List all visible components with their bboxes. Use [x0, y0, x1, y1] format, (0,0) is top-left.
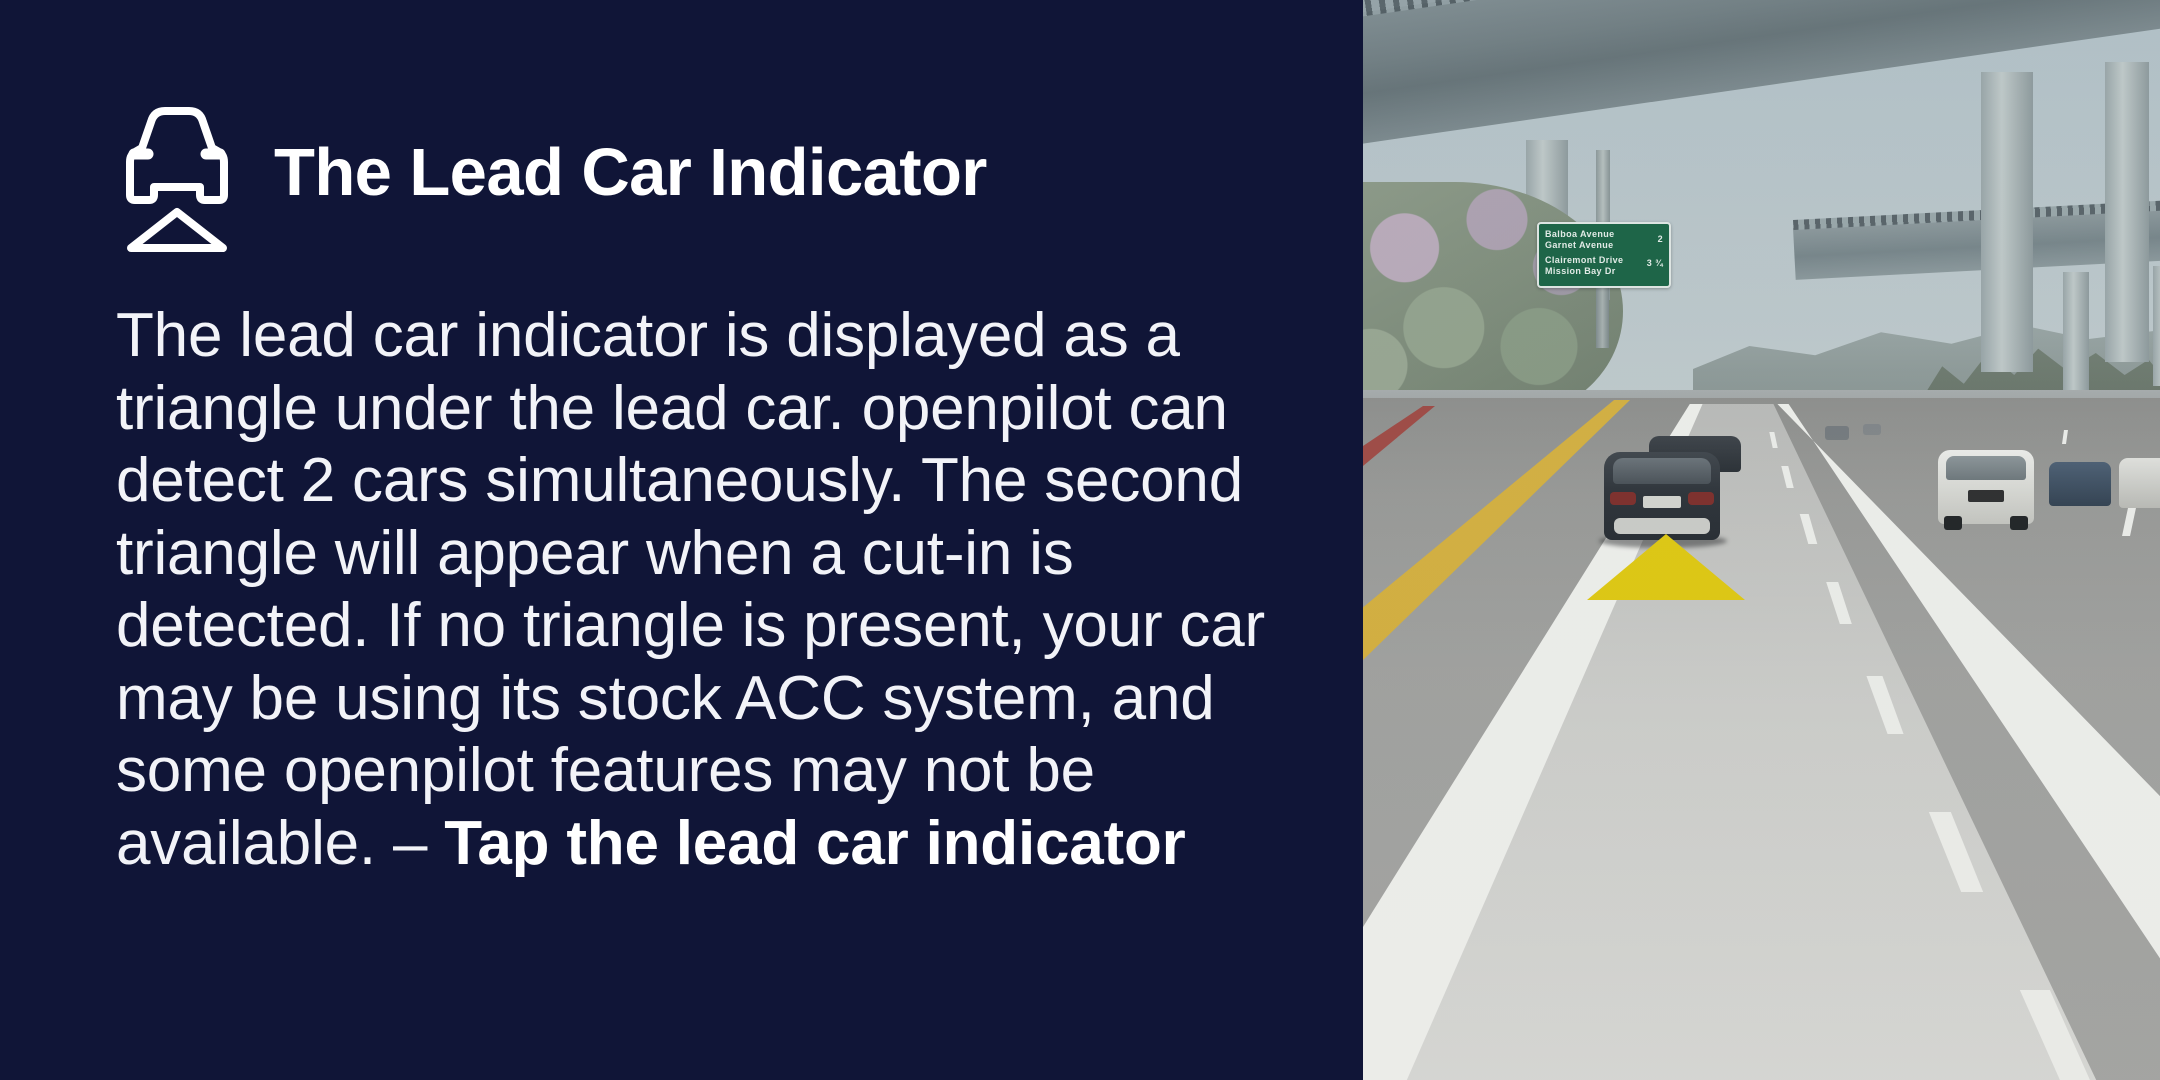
tail-light-left: [1610, 492, 1636, 505]
overpass-pier: [1981, 72, 2033, 372]
silver-vehicle: [2119, 458, 2160, 508]
overpass-pier: [2063, 272, 2089, 392]
license-plate: [1968, 490, 2004, 502]
panel-header: The Lead Car Indicator: [118, 92, 987, 252]
lead-car-indicator-icon: [118, 92, 236, 252]
distance-1: 2: [1647, 234, 1663, 245]
destination-2: Garnet Avenue: [1545, 240, 1623, 251]
blue-vehicle: [2049, 462, 2111, 506]
highway-exit-sign: Balboa Avenue Garnet Avenue Clairemont D…: [1537, 222, 1671, 288]
tyre: [1944, 516, 1962, 530]
tyre: [2010, 516, 2028, 530]
license-plate: [1643, 496, 1681, 508]
body-text: The lead car indicator is displayed as a…: [116, 301, 1265, 878]
info-panel: The Lead Car Indicator The lead car indi…: [0, 0, 1363, 1080]
destination-1: Balboa Avenue: [1545, 229, 1623, 240]
overpass-pier: [2153, 266, 2160, 386]
road-photo-panel: Balboa Avenue Garnet Avenue Clairemont D…: [1363, 0, 2160, 1080]
destination-4: Mission Bay Dr: [1545, 266, 1623, 277]
distance-2: 3 ¾: [1647, 258, 1663, 269]
page-title: The Lead Car Indicator: [274, 139, 987, 206]
distant-vehicle: [1825, 426, 1849, 440]
exit-sign-destinations: Balboa Avenue Garnet Avenue Clairemont D…: [1545, 229, 1623, 281]
rear-window: [1613, 458, 1711, 484]
tail-light-right: [1688, 492, 1714, 505]
lead-car-triangle[interactable]: [1587, 534, 1745, 600]
distant-vehicle: [1863, 424, 1881, 435]
dashcam-photo: Balboa Avenue Garnet Avenue Clairemont D…: [1363, 0, 2160, 1080]
cta-text: Tap the lead car indicator: [444, 809, 1185, 878]
sign-post-lower: [1596, 288, 1609, 348]
rear-bumper: [1614, 518, 1710, 534]
exit-sign-distances: 2 3 ¾: [1643, 229, 1663, 281]
destination-3: Clairemont Drive: [1545, 255, 1623, 266]
overpass-pier: [2105, 62, 2149, 362]
white-suv: [1938, 450, 2034, 524]
lead-vehicle: [1604, 452, 1720, 540]
body-copy: The lead car indicator is displayed as a…: [116, 300, 1281, 880]
rear-window: [1946, 456, 2026, 480]
lead-car-indicator-card: The Lead Car Indicator The lead car indi…: [0, 0, 2160, 1080]
